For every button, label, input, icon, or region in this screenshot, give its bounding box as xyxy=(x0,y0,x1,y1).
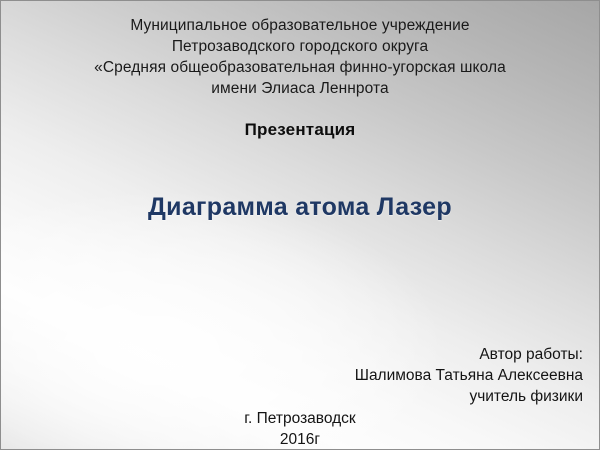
organization-line-2: Петрозаводского городского округа xyxy=(1,36,599,57)
publication-year: 2016г xyxy=(1,429,599,450)
organization-line-1: Муниципальное образовательное учреждение xyxy=(1,15,599,36)
author-label: Автор работы: xyxy=(355,344,583,365)
publication-block: г. Петрозаводск 2016г xyxy=(1,408,599,450)
organization-line-3: «Средняя общеобразовательная финно-угорс… xyxy=(1,57,599,78)
presentation-title-slide: Муниципальное образовательное учреждение… xyxy=(0,0,600,450)
author-name: Шалимова Татьяна Алексеевна xyxy=(355,365,583,386)
organization-header: Муниципальное образовательное учреждение… xyxy=(1,15,599,99)
organization-line-4: имени Элиаса Леннрота xyxy=(1,78,599,99)
page-title: Диаграмма атома Лазер xyxy=(1,193,599,222)
author-block: Автор работы: Шалимова Татьяна Алексеевн… xyxy=(355,344,583,407)
author-role: учитель физики xyxy=(355,386,583,407)
publication-city: г. Петрозаводск xyxy=(1,408,599,429)
document-kind-label: Презентация xyxy=(1,120,599,140)
